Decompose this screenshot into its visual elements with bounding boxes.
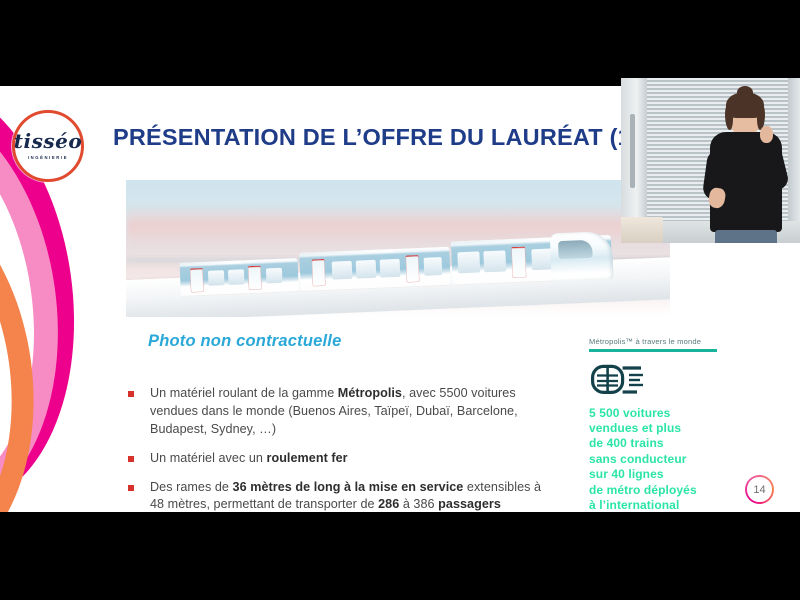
bullet-square-icon (128, 391, 134, 397)
train-door (190, 268, 204, 292)
train-car-1 (180, 258, 299, 297)
page-number: 14 (747, 477, 771, 501)
page-number-badge: 14 (745, 475, 774, 504)
train-door (248, 266, 262, 290)
hair-side-left (725, 104, 733, 130)
bullet-square-icon (128, 456, 134, 462)
train-window (457, 252, 480, 273)
list-item: Un matériel roulant de la gamme Métropol… (128, 385, 548, 439)
infobox-stat-line: sans conducteur (589, 452, 789, 467)
train-window (208, 270, 225, 286)
page-title: PRÉSENTATION DE L’OFFRE DU LAURÉAT (1/3) (113, 124, 659, 151)
logo-wordmark: tisséo (14, 131, 82, 151)
bullet-text: Un matériel avec un roulement fer (150, 450, 348, 468)
train-nose-cab (550, 231, 614, 282)
hand-right (760, 126, 773, 143)
train-window (228, 269, 245, 285)
bullet-text: Un matériel roulant de la gamme Métropol… (150, 385, 548, 439)
trousers (715, 230, 777, 243)
train-window (332, 261, 353, 280)
train-door (511, 246, 526, 277)
train-window (356, 260, 377, 279)
wall-right (788, 78, 800, 243)
train-car-3 (451, 235, 613, 286)
train-window (483, 251, 506, 272)
sign-language-interpreter-feed[interactable] (621, 78, 800, 243)
photo-disclaimer-caption: Photo non contractuelle (148, 332, 341, 351)
bullet-text: Des rames de 36 mètres de long à la mise… (150, 479, 548, 513)
train-door (312, 259, 326, 287)
bullet-list: Un matériel roulant de la gamme Métropol… (128, 385, 548, 512)
logo-subtitle: INGÉNIERIE (28, 155, 68, 160)
train-window (424, 257, 443, 276)
train-window (380, 259, 401, 278)
train-car-2 (299, 247, 451, 292)
infobox-heading-rule (589, 349, 717, 352)
train-roofline (451, 237, 555, 244)
infobox-stat-line: vendues et plus (589, 421, 789, 436)
train-roofline (299, 249, 393, 256)
train-photo (126, 180, 670, 317)
desk (621, 217, 663, 243)
screen: tisséo INGÉNIERIE PRÉSENTATION DE L’OFFR… (0, 0, 800, 600)
infobox-stat-line: 5 500 voitures (589, 406, 789, 421)
infobox-stat-line: de 400 trains (589, 436, 789, 451)
list-item: Un matériel avec un roulement fer (128, 450, 548, 468)
infobox-heading: Métropolis™ à travers le monde (589, 337, 789, 349)
list-item: Des rames de 36 mètres de long à la mise… (128, 479, 548, 513)
train-window (266, 268, 283, 284)
bullet-square-icon (128, 485, 134, 491)
train-roofline (180, 260, 242, 266)
metro-train-icon (591, 364, 789, 400)
tisseo-ingenierie-logo: tisséo INGÉNIERIE (12, 110, 84, 182)
train-door (405, 255, 419, 283)
